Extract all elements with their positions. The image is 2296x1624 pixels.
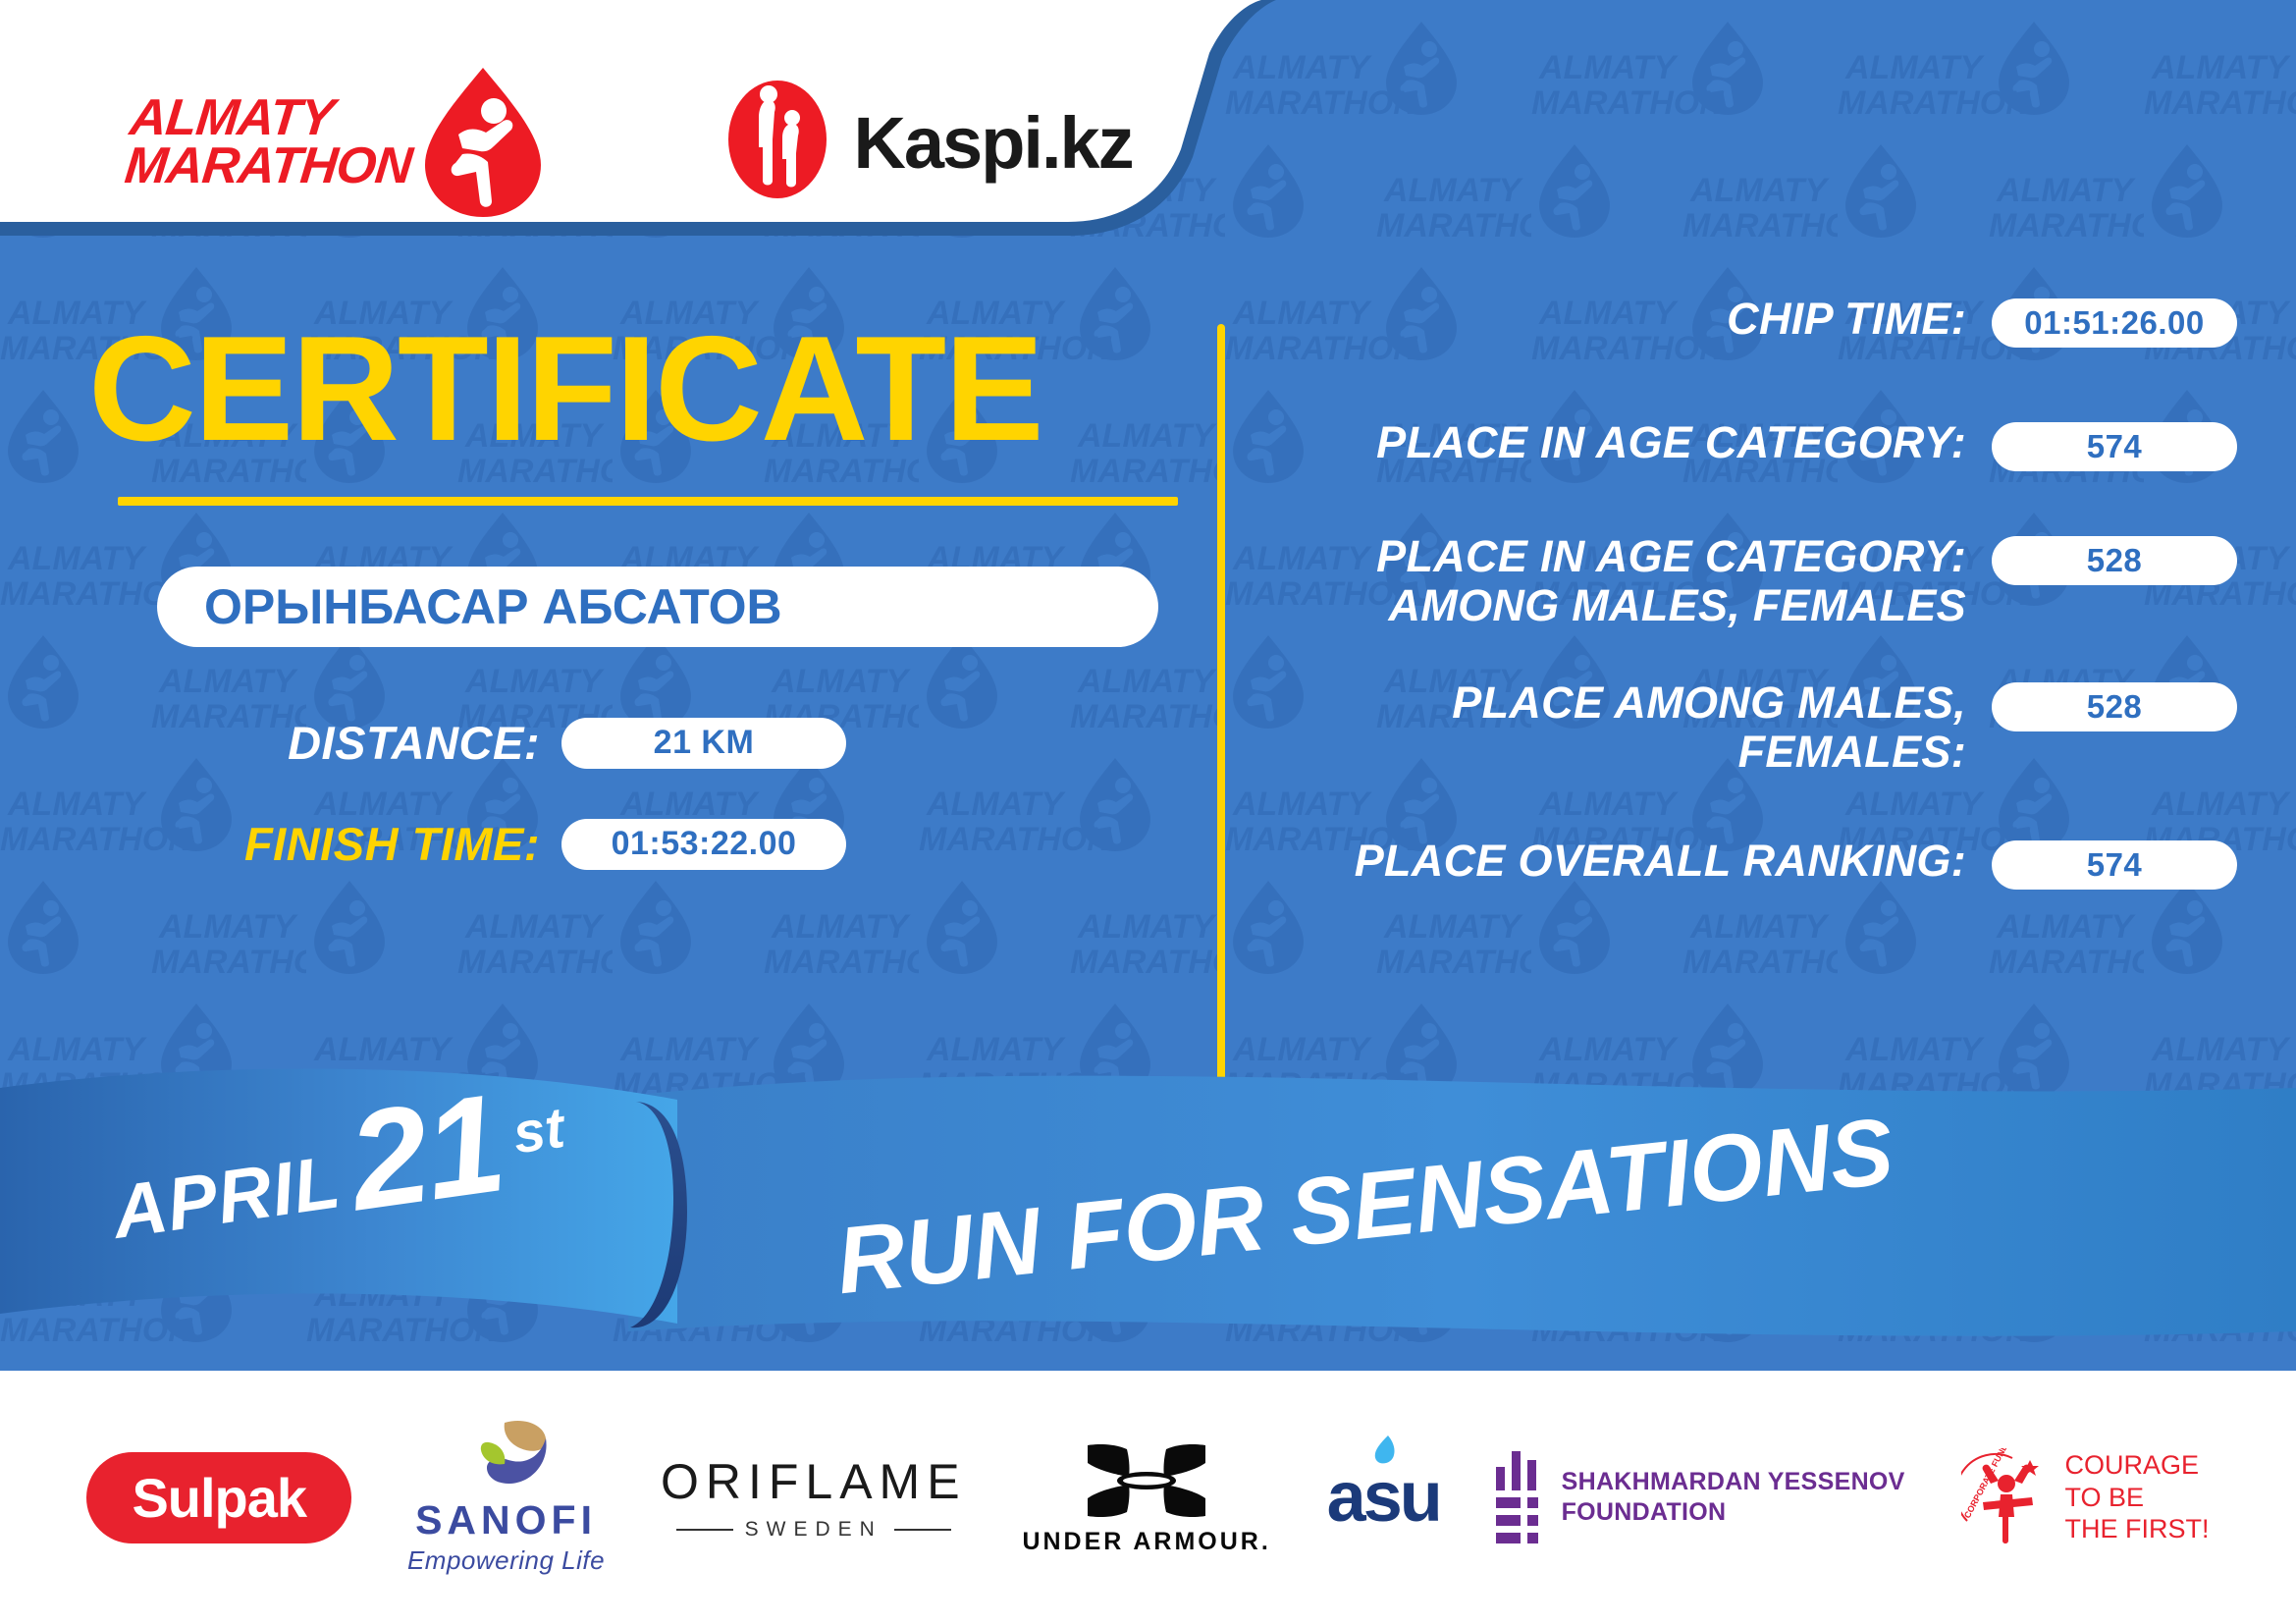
stat-value: 528	[2087, 542, 2143, 579]
participant-name: ОРЫНБАСАР АБСАТОВ	[204, 578, 782, 635]
kaspi-wordmark: Kaspi.kz	[853, 101, 1132, 185]
stat-value-field: 01:51:26.00	[1992, 298, 2237, 348]
title-underline	[118, 497, 1178, 506]
stat-label: PLACE IN AGE CATEGORY: AMONG MALES, FEMA…	[1276, 532, 1992, 631]
asu-droplet-icon	[1372, 1435, 1398, 1465]
oriflame-rule-left	[676, 1529, 733, 1531]
sponsor-logo-asu: asu	[1327, 1457, 1440, 1538]
almaty-marathon-line1: ALMATY	[128, 94, 419, 142]
courage-text: COURAGE TO BE THE FIRST!	[2065, 1449, 2210, 1546]
sponsor-logo-courage-to-be-the-first: CORPORATE FUND COURAGE TO BE THE FIRST!	[1961, 1448, 2210, 1546]
courage-line2: TO BE	[2065, 1482, 2210, 1514]
certificate-page: ALMATY MARATHON Kaspi.kz CERTIF	[0, 0, 2296, 1624]
yessenov-line2: FOUNDATION	[1562, 1497, 1905, 1528]
stat-label: PLACE OVERALL RANKING:	[1276, 837, 1992, 886]
stat-value-field: 528	[1992, 536, 2237, 585]
stat-value: 01:51:26.00	[2024, 304, 2204, 342]
sulpak-wordmark: Sulpak	[132, 1467, 306, 1529]
sanofi-wordmark: SANOFI	[415, 1497, 597, 1543]
distance-value-field: 21 KM	[561, 718, 846, 769]
sponsor-logo-under-armour: UNDER ARMOUR.	[1022, 1439, 1270, 1556]
kaspi-people-icon	[723, 79, 831, 206]
stat-value: 528	[2087, 688, 2143, 726]
stat-row-chip-time: CHIP TIME: 01:51:26.00	[1276, 295, 2237, 348]
stat-row-place-among-males-females: PLACE AMONG MALES, FEMALES: 528	[1276, 678, 2237, 778]
sponsor-logo-oriflame: ORIFLAME SWEDEN	[661, 1453, 967, 1542]
stat-label: PLACE AMONG MALES, FEMALES:	[1276, 678, 1992, 778]
sanofi-tagline: Empowering Life	[407, 1545, 605, 1576]
stat-row-place-in-age-category-among: PLACE IN AGE CATEGORY: AMONG MALES, FEMA…	[1276, 532, 2237, 631]
under-armour-wordmark: UNDER ARMOUR.	[1022, 1528, 1270, 1556]
sponsor-logo-sulpak: Sulpak	[86, 1452, 351, 1543]
distance-row: DISTANCE: 21 KM	[157, 716, 1148, 770]
oriflame-wordmark: ORIFLAME	[661, 1453, 967, 1510]
kaspi-logo: Kaspi.kz	[723, 79, 1132, 206]
oriflame-tagline: SWEDEN	[745, 1518, 882, 1542]
finish-time-value-field: 01:53:22.00	[561, 819, 846, 870]
stats-column: CHIP TIME: 01:51:26.00 PLACE IN AGE CATE…	[1276, 295, 2237, 919]
page-title: CERTIFICATE	[69, 314, 1148, 463]
almaty-marathon-logo: ALMATY MARATHON	[128, 64, 547, 221]
distance-value: 21 KM	[654, 724, 755, 762]
finish-time-label: FINISH TIME:	[157, 817, 540, 871]
left-column: CERTIFICATE ОРЫНБАСАР АБСАТОВ DISTANCE: …	[69, 314, 1148, 871]
yessenov-mark-icon	[1496, 1451, 1538, 1543]
stat-label: PLACE IN AGE CATEGORY:	[1276, 418, 1992, 467]
under-armour-icon	[1080, 1439, 1213, 1522]
oriflame-sub: SWEDEN	[676, 1518, 951, 1542]
yessenov-text: SHAKHMARDAN YESSENOV FOUNDATION	[1562, 1467, 1905, 1529]
stat-label: CHIP TIME:	[1276, 295, 1992, 344]
courage-line1: COURAGE	[2065, 1449, 2210, 1482]
almaty-marathon-wordmark: ALMATY MARATHON	[123, 94, 419, 191]
vertical-divider	[1217, 324, 1225, 1100]
runner-drop-icon	[419, 64, 547, 221]
finish-time-value: 01:53:22.00	[612, 825, 797, 863]
courage-child-icon: CORPORATE FUND	[1961, 1448, 2052, 1546]
oriflame-rule-right	[894, 1529, 951, 1531]
stat-value-field: 574	[1992, 840, 2237, 890]
participant-name-field: ОРЫНБАСАР АБСАТОВ	[157, 567, 1158, 647]
yessenov-line1: SHAKHMARDAN YESSENOV	[1562, 1467, 1905, 1497]
sulpak-badge: Sulpak	[86, 1452, 351, 1543]
stat-row-place-overall-ranking: PLACE OVERALL RANKING: 574	[1276, 837, 2237, 890]
finish-time-row: FINISH TIME: 01:53:22.00	[157, 817, 1148, 871]
stat-value-field: 574	[1992, 422, 2237, 471]
sponsor-logo-sanofi: SANOFI Empowering Life	[407, 1419, 605, 1576]
stat-value-field: 528	[1992, 682, 2237, 731]
stat-value: 574	[2087, 846, 2143, 884]
sponsor-strip: Sulpak SANOFI Empowering Life ORIFLAME S…	[0, 1371, 2296, 1624]
almaty-marathon-line2: MARATHON	[123, 142, 414, 190]
sanofi-bird-icon	[459, 1419, 554, 1495]
header-logo-row: ALMATY MARATHON Kaspi.kz	[0, 0, 1276, 285]
distance-label: DISTANCE:	[157, 716, 540, 770]
courage-line3: THE FIRST!	[2065, 1513, 2210, 1545]
stat-value: 574	[2087, 428, 2143, 465]
sponsor-logo-yessenov-foundation: SHAKHMARDAN YESSENOV FOUNDATION	[1496, 1451, 1905, 1543]
stat-row-place-in-age-category: PLACE IN AGE CATEGORY: 574	[1276, 418, 2237, 471]
asu-wordmark: asu	[1327, 1458, 1440, 1537]
